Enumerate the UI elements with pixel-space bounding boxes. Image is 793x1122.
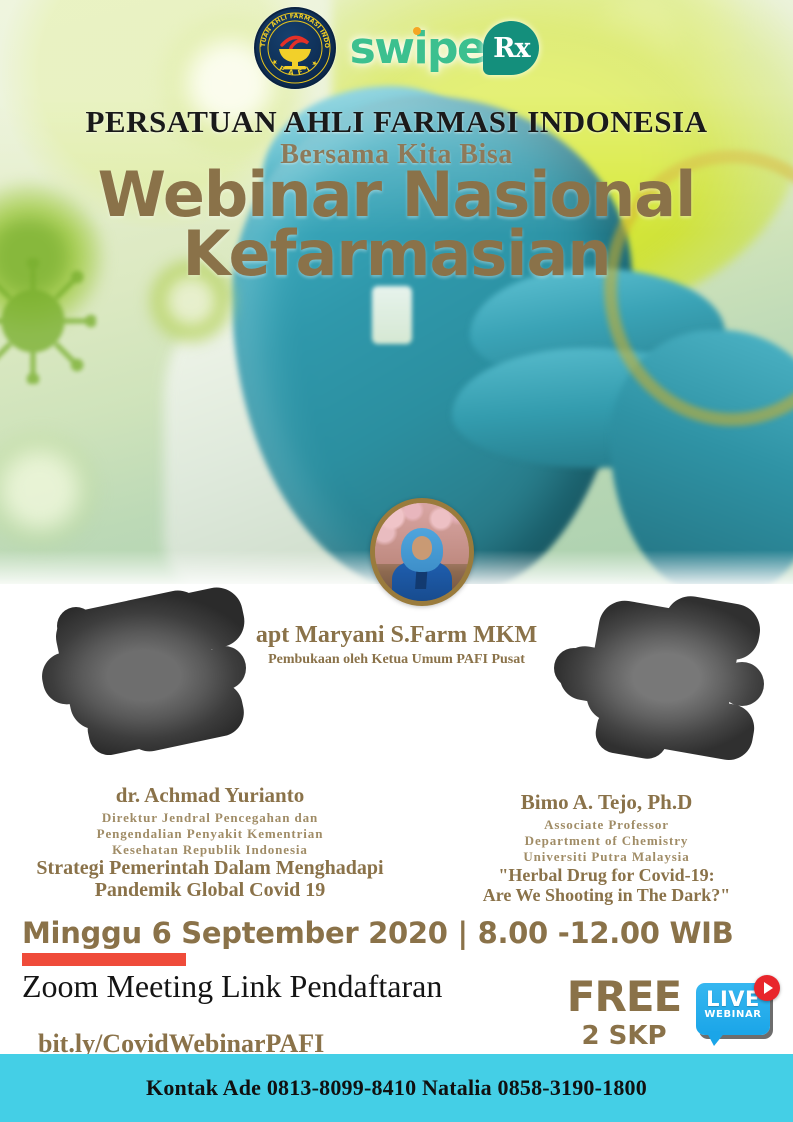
- bowl-of-hygieia-icon: [272, 29, 318, 71]
- platform-label: Zoom Meeting Link Pendaftaran: [22, 968, 442, 1005]
- left-speaker-topic: Strategi Pemerintah Dalam Menghadapi Pan…: [0, 857, 420, 902]
- left-speaker-affiliation: Direktur Jendral Pencegahan dan Pengenda…: [0, 810, 420, 858]
- swipe-i-dot-icon: [413, 27, 421, 35]
- affiliation-line: Direktur Jendral Pencegahan dan: [0, 810, 420, 826]
- free-badge: FREE: [548, 972, 700, 1021]
- rx-label: Rx: [493, 35, 530, 62]
- logo-row: PERSATUAN AHLI FARMASI INDONESIA ★ P A F…: [0, 6, 793, 90]
- avatar-face: [412, 536, 433, 560]
- affiliation-line: Pengendalian Penyakit Kementrian: [0, 826, 420, 842]
- background-virus-blob: [0, 430, 100, 550]
- avatar-center-speaker: [370, 498, 474, 606]
- swipe-wordmark: swipe: [350, 23, 486, 74]
- page-title: Webinar Nasional Kefarmasian: [0, 166, 793, 284]
- right-speaker-topic: "Herbal Drug for Covid-19: Are We Shooti…: [420, 865, 793, 905]
- webinar-poster: PERSATUAN AHLI FARMASI INDONESIA ★ P A F…: [0, 0, 793, 1122]
- webinar-label: WEBINAR: [696, 1009, 770, 1020]
- pafi-logo: PERSATUAN AHLI FARMASI INDONESIA ★ P A F…: [254, 7, 336, 89]
- photo-right-speaker: [552, 592, 772, 770]
- rx-speech-bubble-icon: Rx: [483, 21, 539, 75]
- topic-line: "Herbal Drug for Covid-19:: [420, 865, 793, 885]
- topic-line: Pandemik Global Covid 19: [0, 879, 420, 901]
- topic-line: Are We Shooting in The Dark?": [420, 885, 793, 905]
- live-webinar-badge: LIVE WEBINAR: [694, 975, 780, 1049]
- swiperx-logo: swipe Rx: [350, 21, 540, 75]
- right-speaker-name: Bimo A. Tejo, Ph.D: [420, 790, 793, 815]
- live-bubble-tail-icon: [706, 1031, 726, 1046]
- organization-title: PERSATUAN AHLI FARMASI INDONESIA: [0, 104, 793, 140]
- left-speaker-name: dr. Achmad Yurianto: [0, 783, 420, 808]
- title-line-2: Kefarmasian: [0, 225, 793, 284]
- accent-underline: [22, 953, 186, 966]
- avatar-image: [375, 503, 469, 601]
- left-speaker-portrait: [28, 582, 260, 762]
- contact-text: Kontak Ade 0813-8099-8410 Natalia 0858-3…: [146, 1075, 647, 1101]
- affiliation-line: Department of Chemistry: [420, 833, 793, 849]
- play-triangle-icon: [764, 982, 773, 994]
- right-speaker-portrait: [552, 592, 772, 770]
- play-button-icon: [754, 975, 780, 1001]
- event-date-time: Minggu 6 September 2020 | 8.00 -12.00 WI…: [22, 916, 733, 950]
- affiliation-line: Kesehatan Republik Indonesia: [0, 842, 420, 858]
- right-speaker-affiliation: Associate Professor Department of Chemis…: [420, 817, 793, 865]
- photo-left-speaker: [28, 582, 260, 762]
- contact-footer: Kontak Ade 0813-8099-8410 Natalia 0858-3…: [0, 1054, 793, 1122]
- topic-line: Strategi Pemerintah Dalam Menghadapi: [0, 857, 420, 879]
- sample-tube: [372, 286, 412, 344]
- affiliation-line: Associate Professor: [420, 817, 793, 833]
- affiliation-line: Universiti Putra Malaysia: [420, 849, 793, 865]
